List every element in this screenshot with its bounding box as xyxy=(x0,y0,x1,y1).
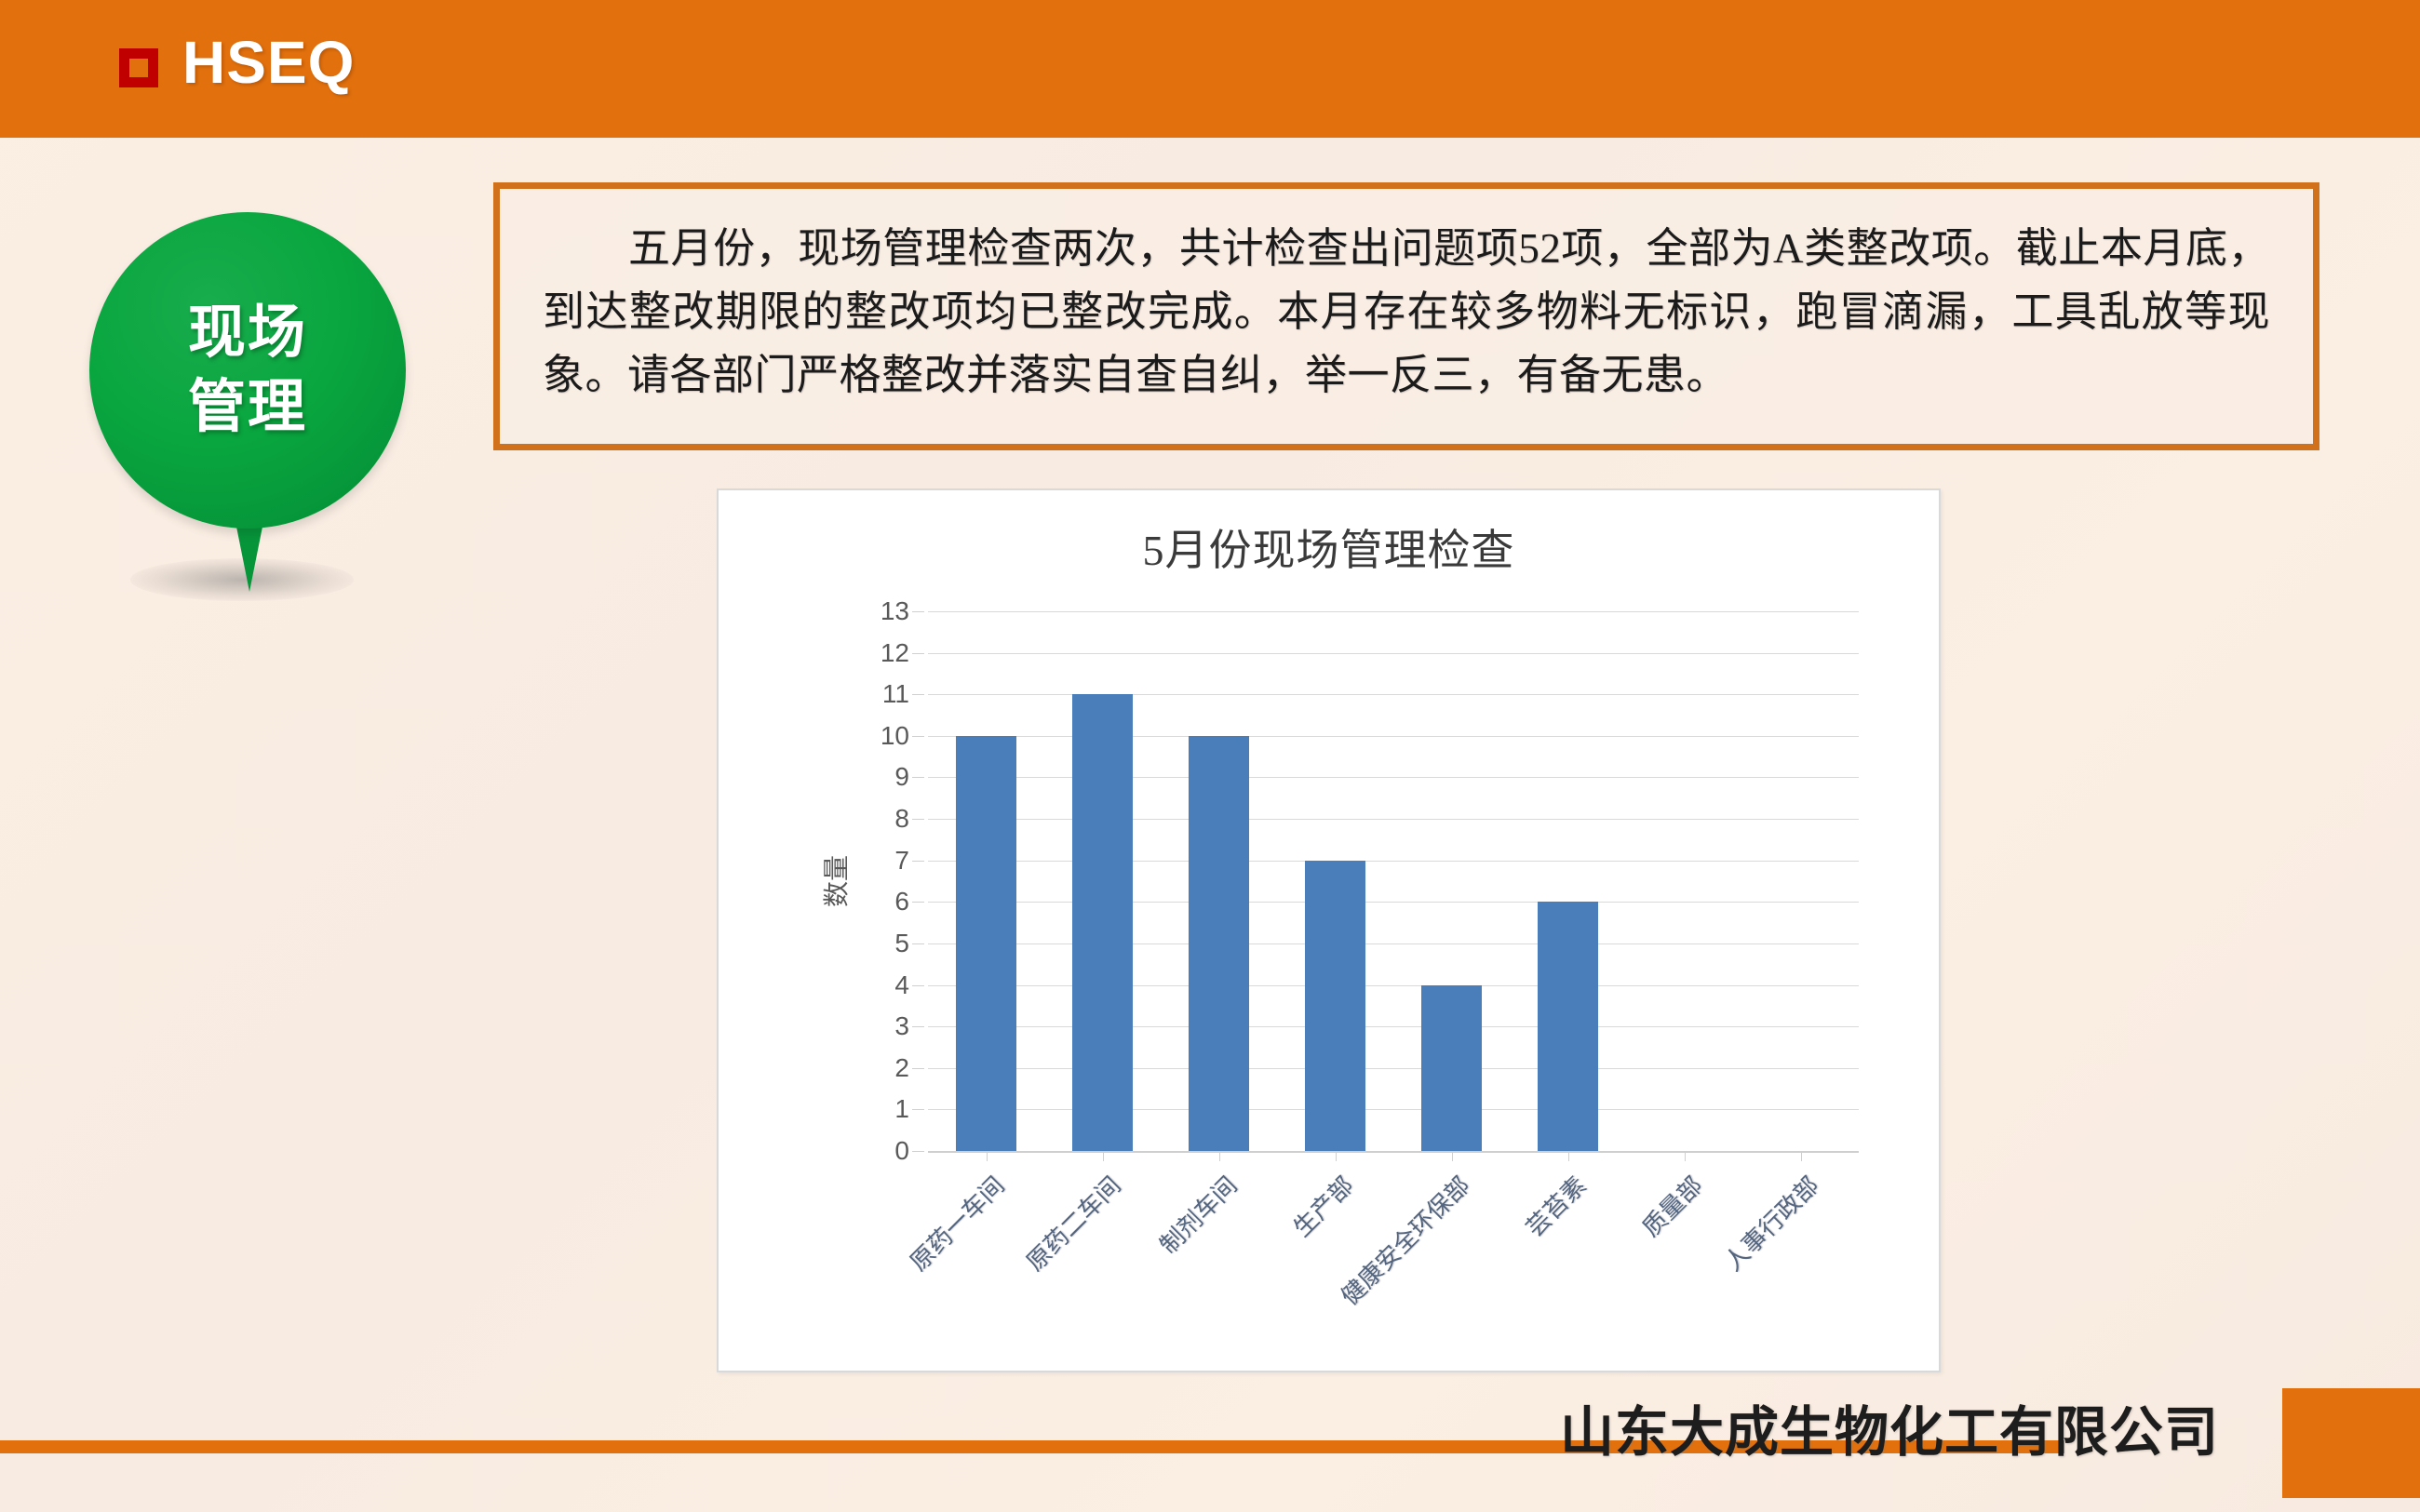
chart-x-tick-label: 芸苔素 xyxy=(1516,1168,1592,1243)
chart-bar xyxy=(956,736,1016,1151)
chart-plot-area: 数量 131211109876543210 xyxy=(928,611,1859,1151)
chart-y-tick-label: 2 xyxy=(894,1053,909,1083)
chart-x-tick-label: 生产部 xyxy=(1284,1168,1359,1243)
chart-y-tick-mark xyxy=(912,1068,924,1069)
chart-x-label-slot: 人事行政部 xyxy=(1742,1153,1859,1358)
chart-y-tick-label: 13 xyxy=(881,596,909,626)
chart-bar xyxy=(1189,736,1249,1151)
chart-y-axis-title: 数量 xyxy=(816,855,854,907)
chart-y-tick-mark xyxy=(912,902,924,903)
square-outline-icon xyxy=(119,48,158,87)
chart-x-label-slot: 原药二车间 xyxy=(1044,1153,1161,1358)
chart-y-tick-label: 5 xyxy=(894,929,909,958)
chart-y-tick-mark xyxy=(912,943,924,944)
chart-panel: 5月份现场管理检查 数量 131211109876543210 原药一车间原药二… xyxy=(717,488,1941,1372)
chart-y-tick-mark xyxy=(912,1026,924,1027)
chart-bar-slot xyxy=(1742,611,1859,1151)
chart-y-tick-label: 1 xyxy=(894,1094,909,1124)
footer-company-name: 山东大成生物化工有限公司 xyxy=(1560,1388,2219,1466)
chart-bar-slot xyxy=(1510,611,1626,1151)
chart-x-label-slot: 健康安全环保部 xyxy=(1393,1153,1510,1358)
chart-y-tick-mark xyxy=(912,861,924,862)
chart-x-tick-mark xyxy=(1685,1153,1686,1161)
chart-y-tick-label: 3 xyxy=(894,1011,909,1041)
chart-x-tick-mark xyxy=(1801,1153,1802,1161)
chart-x-tick-label: 原药一车间 xyxy=(901,1168,1011,1278)
chart-bar xyxy=(1305,861,1365,1151)
chart-y-tick-label: 6 xyxy=(894,887,909,917)
callout-label-line1: 现场 xyxy=(89,296,406,370)
chart-bar-slot xyxy=(928,611,1044,1151)
chart-bar xyxy=(1072,694,1133,1151)
chart-bar xyxy=(1538,902,1598,1151)
chart-x-tick-mark xyxy=(1219,1153,1220,1161)
chart-y-tick-label: 0 xyxy=(894,1136,909,1166)
chart-x-tick-mark xyxy=(1336,1153,1337,1161)
summary-paragraph: 五月份，现场管理检查两次，共计检查出问题项52项，全部为A类整改项。截止本月底，… xyxy=(543,217,2270,407)
callout-label-line2: 管理 xyxy=(89,370,406,445)
chart-x-tick-mark xyxy=(1568,1153,1569,1161)
chart-bar-slot xyxy=(1626,611,1742,1151)
chart-bar-slot xyxy=(1277,611,1393,1151)
chart-y-tick-mark xyxy=(912,611,924,612)
chart-x-tick-mark xyxy=(987,1153,988,1161)
chart-y-tick-mark xyxy=(912,736,924,737)
chart-y-tick-mark xyxy=(912,653,924,654)
chart-x-label-slot: 制剂车间 xyxy=(1161,1153,1277,1358)
chart-y-tick-label: 4 xyxy=(894,970,909,1000)
chart-y-tick-mark xyxy=(912,1151,924,1152)
chart-bar xyxy=(1421,985,1482,1151)
chart-x-label-slot: 芸苔素 xyxy=(1510,1153,1626,1358)
chart-title: 5月份现场管理检查 xyxy=(719,516,1939,578)
chart-bar-slot xyxy=(1393,611,1510,1151)
chart-x-axis: 原药一车间原药二车间制剂车间生产部健康安全环保部芸苔素质量部人事行政部 xyxy=(928,1153,1859,1358)
section-callout-badge: 现场 管理 xyxy=(89,212,406,612)
chart-y-tick-mark xyxy=(912,819,924,820)
chart-y-tick-mark xyxy=(912,694,924,695)
summary-textbox: 五月份，现场管理检查两次，共计检查出问题项52项，全部为A类整改项。截止本月底，… xyxy=(493,182,2319,450)
chart-x-tick-label: 制剂车间 xyxy=(1150,1168,1244,1261)
chart-bar-slot xyxy=(1044,611,1161,1151)
footer-accent-block xyxy=(2282,1388,2420,1498)
chart-y-tick-mark xyxy=(912,1109,924,1110)
chart-y-tick-mark xyxy=(912,777,924,778)
chart-y-tick-label: 11 xyxy=(882,679,909,709)
chart-y-tick-label: 9 xyxy=(894,762,909,792)
chart-y-tick-label: 10 xyxy=(881,721,909,751)
chart-y-tick-label: 8 xyxy=(894,804,909,834)
chart-bars xyxy=(928,611,1859,1151)
chart-x-tick-mark xyxy=(1452,1153,1453,1161)
chart-x-tick-label: 质量部 xyxy=(1633,1168,1708,1243)
callout-label: 现场 管理 xyxy=(89,296,406,445)
chart-y-tick-label: 7 xyxy=(894,846,909,876)
chart-bar-slot xyxy=(1161,611,1277,1151)
chart-y-tick-label: 12 xyxy=(881,638,909,668)
header-bar: HSEQ xyxy=(0,0,2420,138)
page-title: HSEQ xyxy=(182,28,355,97)
chart-y-tick-mark xyxy=(912,985,924,986)
chart-x-tick-mark xyxy=(1103,1153,1104,1161)
